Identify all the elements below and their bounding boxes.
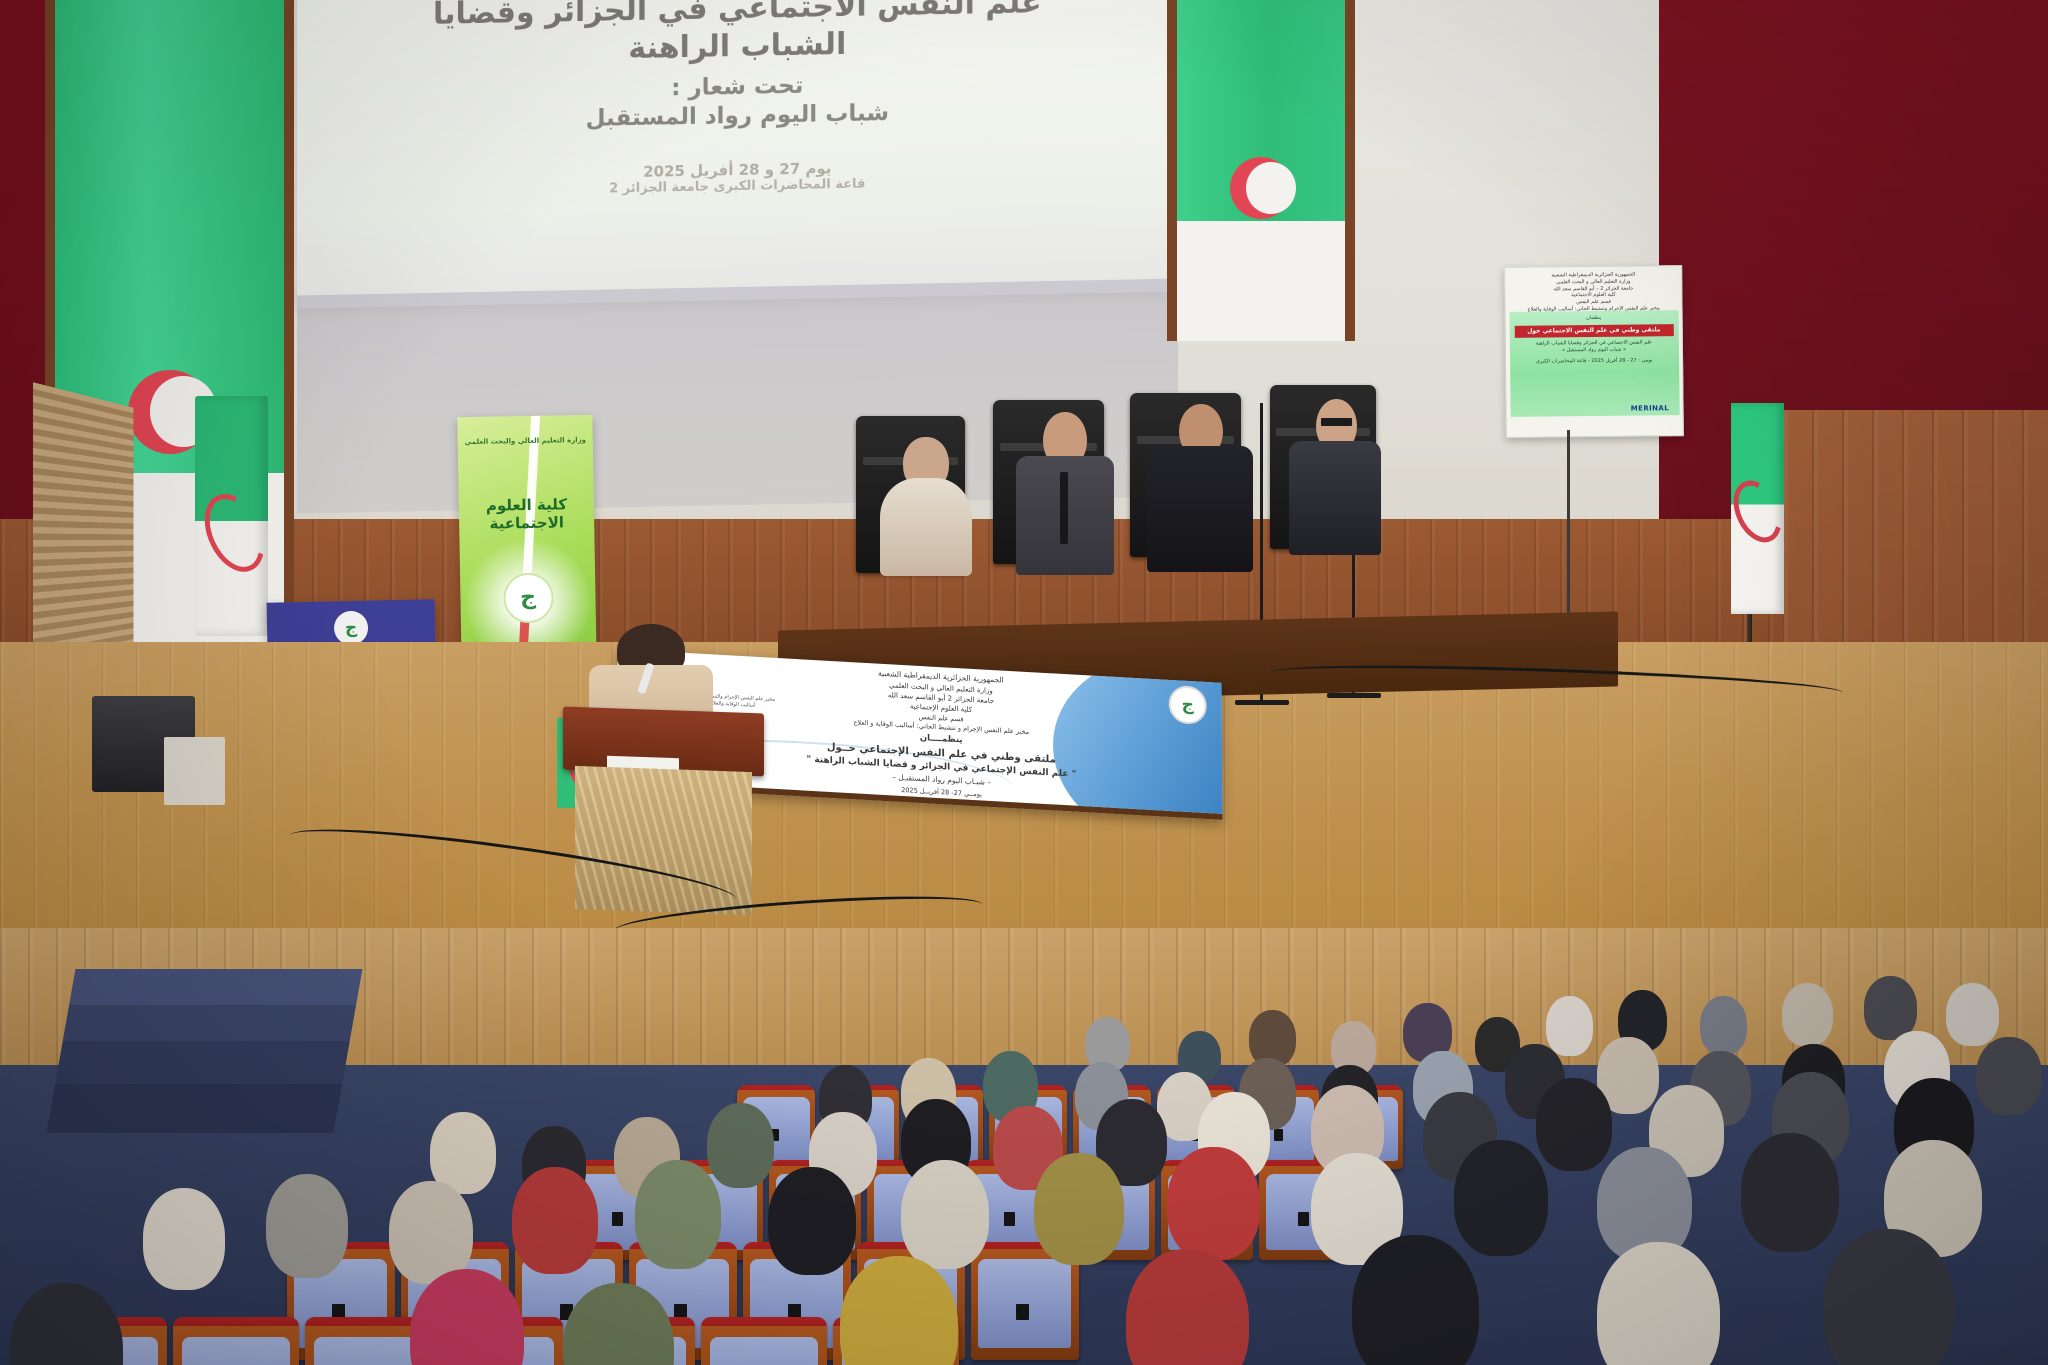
conference-hall-photo: علم النفس الاجتماعي في الجزائر وقضايا ال… (0, 0, 2048, 1365)
attendee (635, 1160, 721, 1269)
panelist-3 (1153, 404, 1247, 565)
poster-organize-label: ينظمان (1514, 314, 1673, 323)
attendee (1946, 983, 1999, 1046)
poster-date-place: يومي : 27 - 28 أفريل 2025 - قاعة المحاضر… (1515, 358, 1674, 367)
attendee (1823, 1229, 1954, 1365)
attendee (901, 1160, 989, 1269)
poster-body-block: ينظمان ملتقى وطني في علم النفس الاجتماعي… (1509, 310, 1679, 417)
standing-algerian-flag-right (1731, 403, 1784, 615)
stage-steps (47, 969, 363, 1133)
seat[interactable] (173, 1317, 299, 1365)
conference-poster: الجمهورية الجزائرية الديمقراطية الشعبية … (1504, 265, 1684, 438)
attendee (1976, 1037, 2042, 1115)
flag-crescent-star-emblem: ★ (1230, 157, 1292, 219)
university-logo-icon: ج (502, 572, 553, 623)
attendee (707, 1103, 775, 1188)
attendee (1034, 1153, 1124, 1265)
necktie (1060, 472, 1068, 544)
projection-screen: علم النفس الاجتماعي في الجزائر وقضايا ال… (297, 0, 1178, 309)
attendee (1352, 1235, 1479, 1365)
banner-text-block: الجمهورية الجزائرية الديمقراطية الشعبية … (781, 664, 1102, 819)
poster-red-banner: ملتقى وطني في علم النفس الاجتماعي حول (1515, 324, 1674, 338)
flag-cloth (1731, 403, 1784, 615)
eyeglasses-icon (1321, 418, 1352, 426)
flag-cloth (195, 396, 269, 636)
attendee (1700, 996, 1747, 1055)
hanging-algerian-flag-right: ★ (1167, 0, 1355, 341)
poster-slogan: « شباب اليوم رواد المستقبل » (1515, 347, 1674, 356)
microphone-stand-foot-1 (1235, 700, 1289, 705)
green-banner-faculty: كلية العلوم الاجتماعية (459, 496, 595, 534)
flag-crescent-icon (193, 485, 275, 582)
flag-crescent-icon (1724, 473, 1790, 550)
attendee (512, 1167, 598, 1273)
attendee (1782, 983, 1833, 1046)
poster-green-area: ينظمان ملتقى وطني في علم النفس الاجتماعي… (1509, 310, 1679, 417)
attendee (143, 1188, 225, 1290)
attendee (768, 1167, 856, 1275)
panelist-4 (1294, 399, 1376, 549)
flag-white-field (1177, 221, 1345, 342)
attendee (1167, 1147, 1259, 1260)
microphone-stand-foot-2 (1327, 693, 1381, 698)
av-equipment (164, 737, 225, 805)
panelist-1 (885, 437, 967, 574)
attendee (1454, 1140, 1548, 1256)
attendee (1741, 1133, 1839, 1252)
panelist-2 (1020, 412, 1110, 569)
poster-sponsor-logo: MERINAL (1631, 404, 1669, 412)
attendee (1546, 996, 1593, 1056)
attendee (1536, 1078, 1612, 1171)
poster-header-block: الجمهورية الجزائرية الديمقراطية الشعبية … (1505, 266, 1682, 315)
standing-algerian-flag-left (195, 396, 269, 669)
attendee (266, 1174, 348, 1278)
university-logo-icon: ج (334, 610, 369, 645)
seat[interactable] (701, 1317, 827, 1365)
green-banner-ministry: وزارة التعليم العالي والبحث العلمي (457, 436, 592, 447)
attendee (1864, 976, 1917, 1040)
